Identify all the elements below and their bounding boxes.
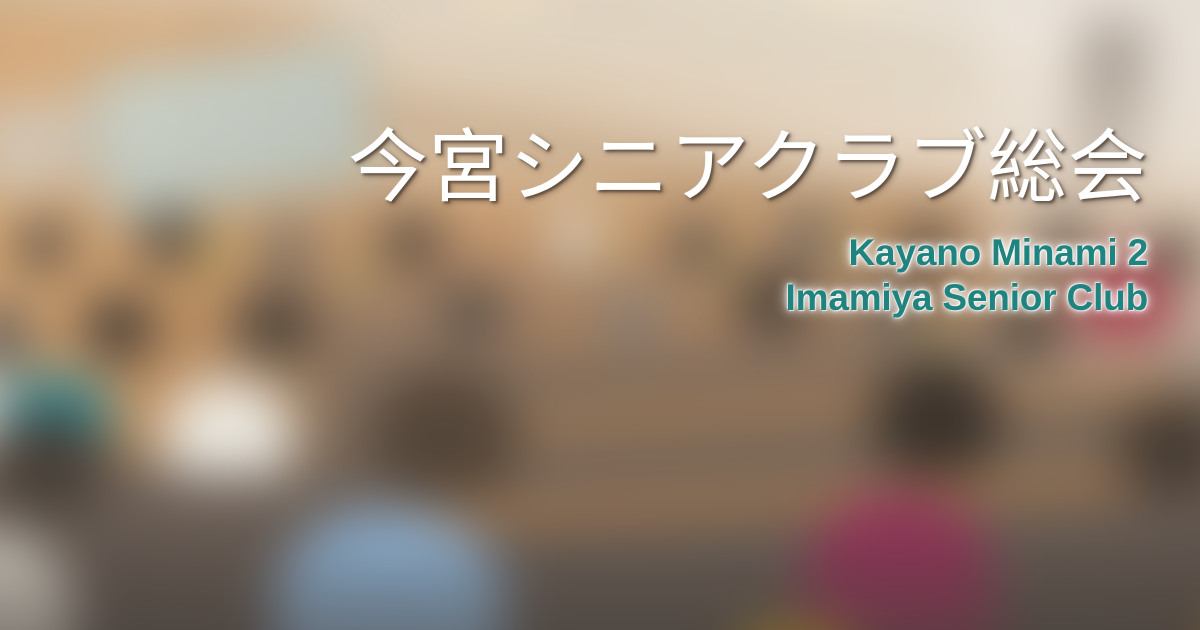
banner-subtitle: Kayano Minami 2 Imamiya Senior Club <box>0 230 1148 320</box>
page-title: 今宮シニアクラブ総会 <box>0 128 1148 208</box>
senior-club-banner: 今宮シニアクラブ総会 Kayano Minami 2 Imamiya Senio… <box>0 0 1200 630</box>
subtitle-line-1: Kayano Minami 2 <box>0 230 1148 275</box>
subtitle-line-2: Imamiya Senior Club <box>0 275 1148 320</box>
banner-text-block: 今宮シニアクラブ総会 Kayano Minami 2 Imamiya Senio… <box>0 128 1148 320</box>
